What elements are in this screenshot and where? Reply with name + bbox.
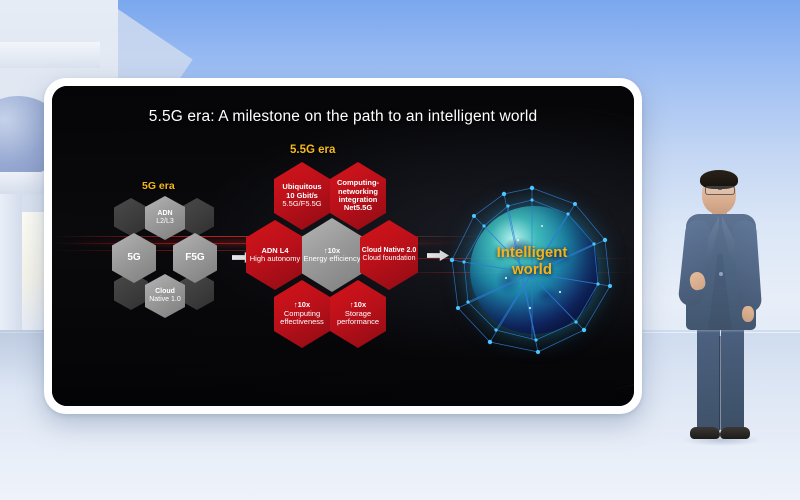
hex-cloud-native-2-line2: Cloud foundation [363, 255, 416, 263]
presenter-hand-right [742, 306, 754, 322]
era-label-5g: 5G era [142, 180, 175, 192]
slide-title: 5.5G era: A milestone on the path to an … [52, 108, 634, 126]
hex-computing-effectiveness-line3: effectiveness [280, 318, 324, 326]
presenter-glasses [705, 186, 735, 195]
presentation-screen[interactable]: 5.5G era: A milestone on the path to an … [52, 86, 634, 406]
hex-adn-l4-line2: High autonomy [250, 255, 300, 263]
hex-f5g-label: F5G [185, 252, 204, 263]
presenter [672, 168, 768, 454]
presenter-shoe-right [720, 427, 750, 439]
screenshot-stage: 5.5G era: A milestone on the path to an … [0, 0, 800, 500]
presenter-leg-gap [719, 336, 721, 430]
hex-adn-l2l3-line2: L2/L3 [156, 218, 174, 226]
presenter-leg-left [697, 324, 720, 432]
hex-computing-networking-line4: Net5.5G [344, 204, 372, 212]
hex-ubiquitous-10g-line3: 5.5G/F5.5G [282, 200, 321, 208]
presenter-leg-right [721, 324, 744, 432]
hex-cloud-native-1-line2: Native 1.0 [149, 296, 181, 304]
studio-top-beam [0, 42, 100, 68]
hex-storage-performance-line3: performance [337, 318, 379, 326]
studio-pillar [0, 194, 22, 344]
hex-adn-l2l3-line1: ADN [157, 210, 172, 218]
globe-caption-line1: Intelligent [442, 244, 622, 261]
era-label-5-5g: 5.5G era [290, 144, 335, 156]
hex-cloud-native-1-line1: Cloud [155, 288, 175, 296]
presenter-shoe-left [690, 427, 720, 439]
globe-caption-line2: world [442, 261, 622, 278]
hex-energy-efficiency-line2: Energy efficiency [304, 255, 361, 263]
hex-cloud-native-2-line1: Cloud Native 2.0 [362, 247, 416, 255]
hex-5g-label: 5G [127, 252, 140, 263]
intelligent-world-globe[interactable]: Intelligent world [442, 182, 622, 362]
presenter-jacket-button [719, 272, 723, 276]
globe-caption: Intelligent world [442, 244, 622, 279]
